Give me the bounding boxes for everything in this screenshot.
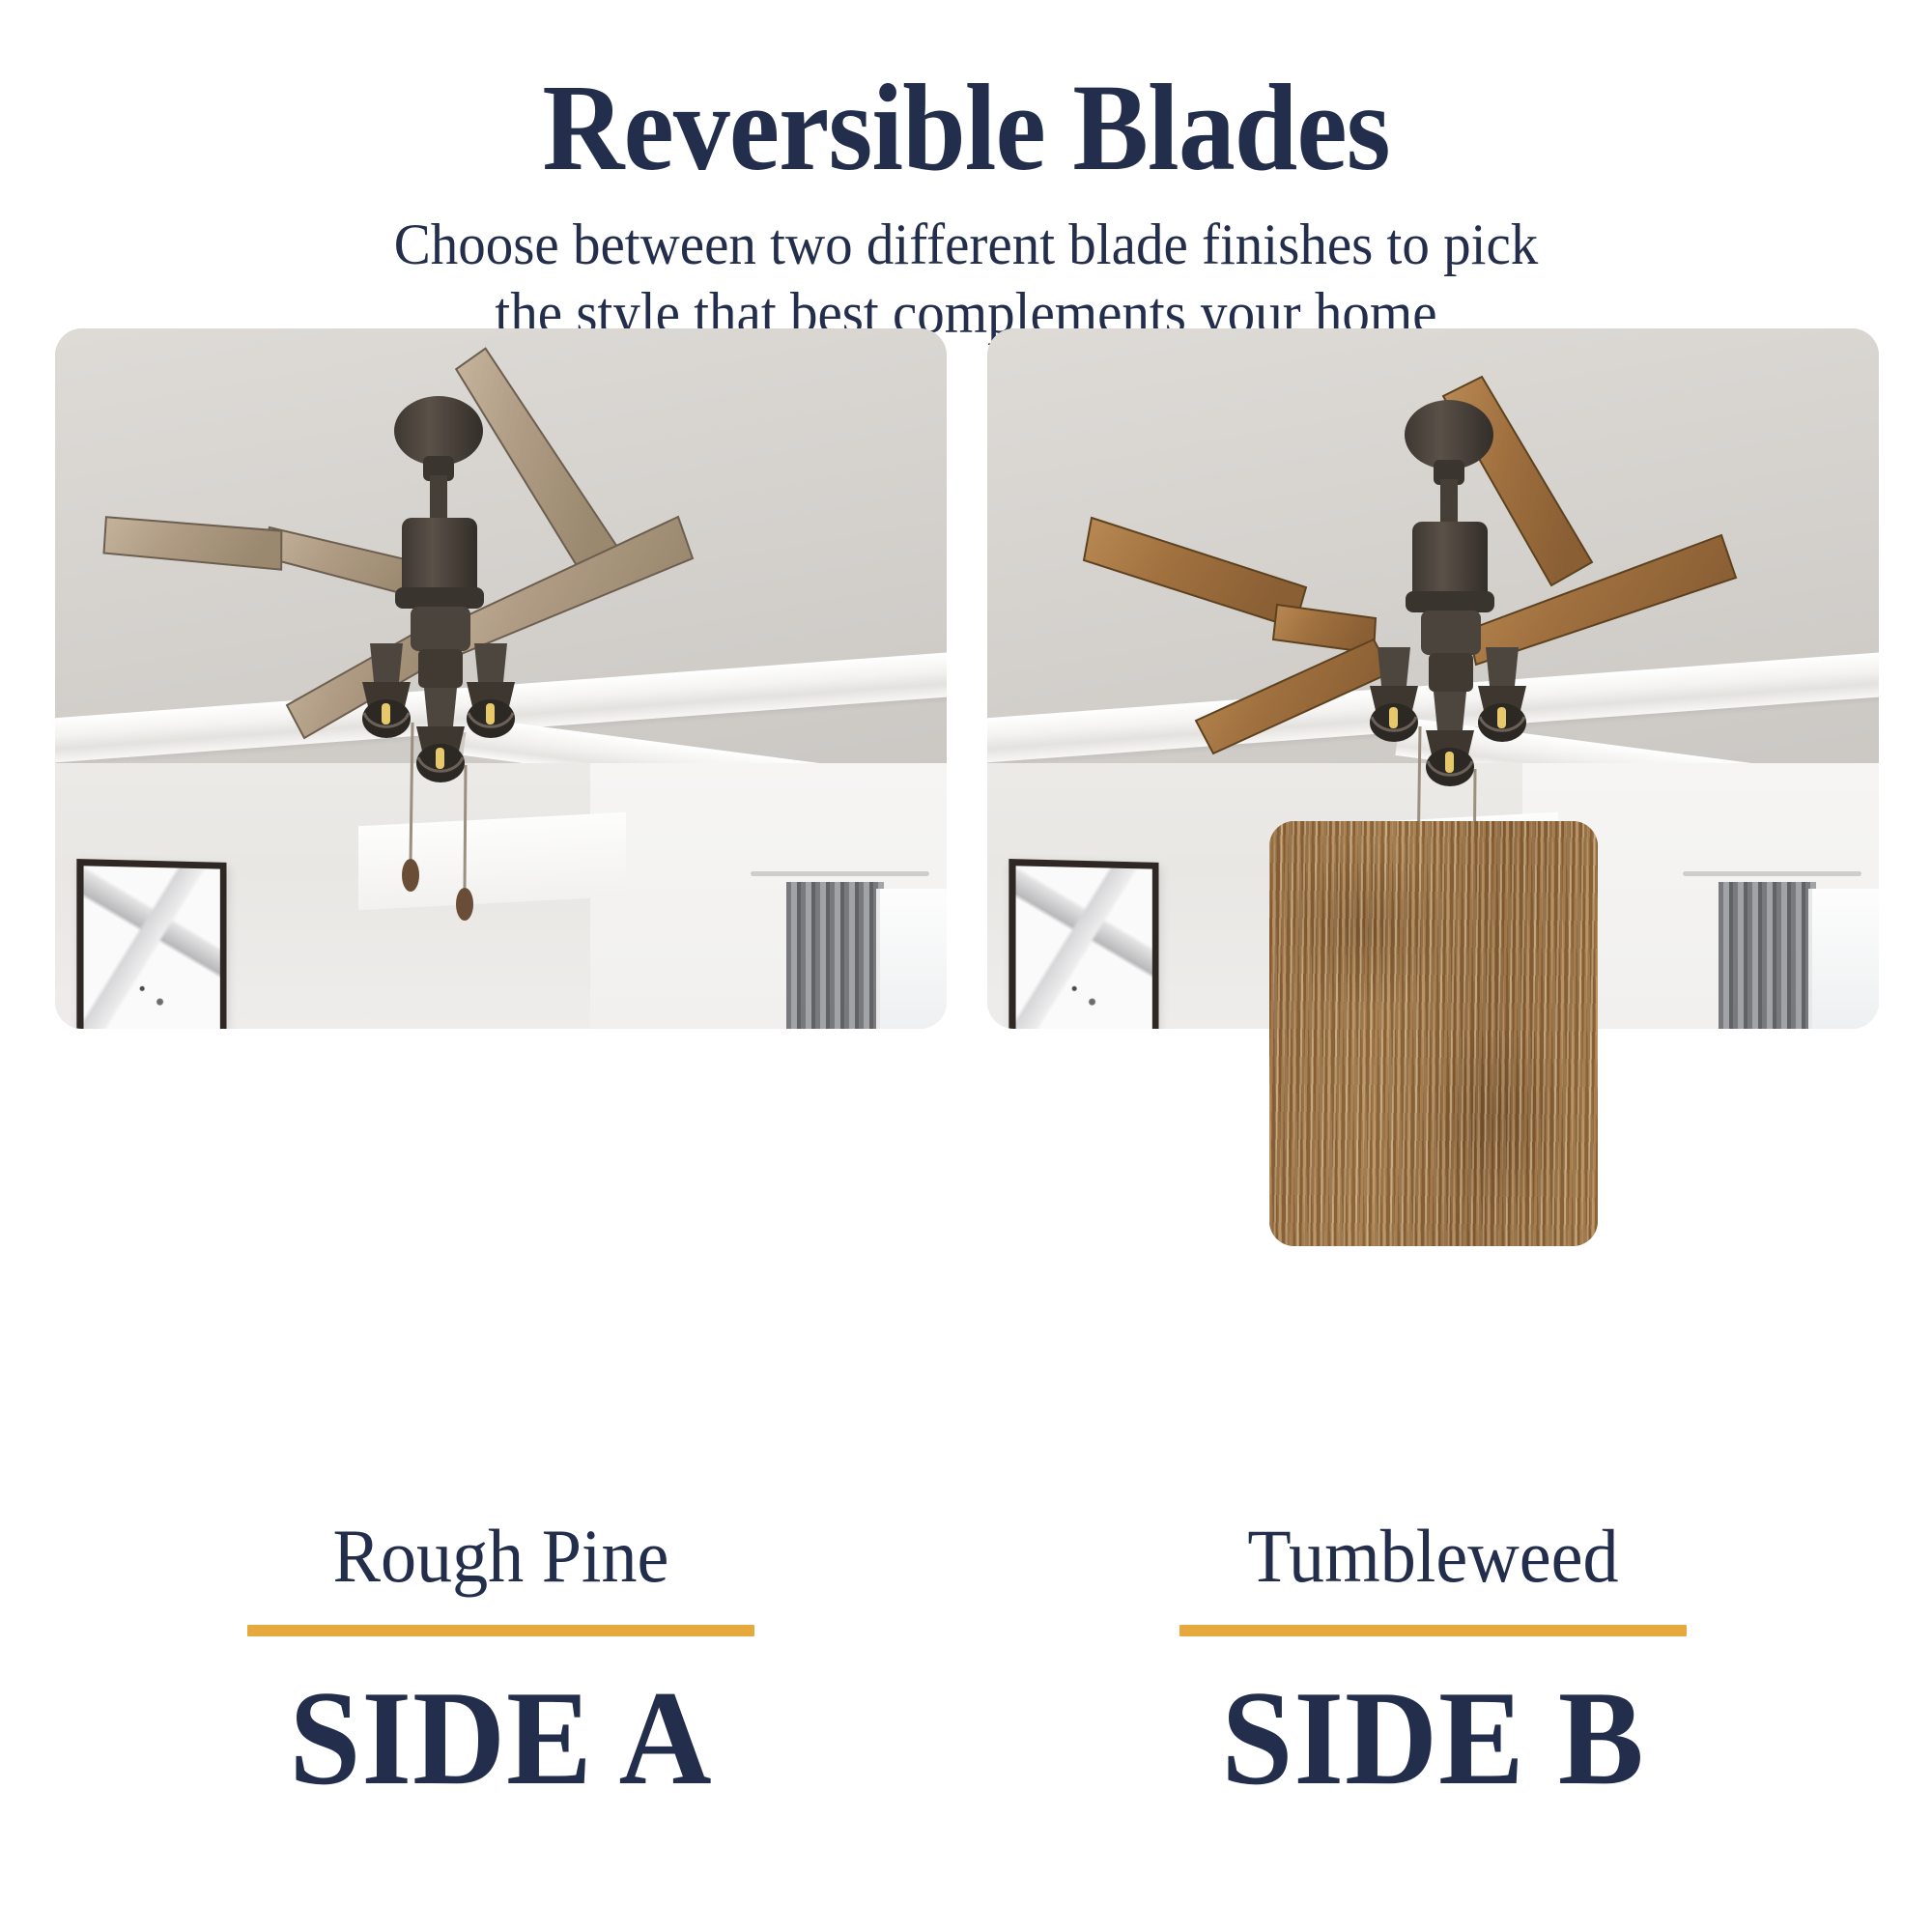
header: Reversible Blades Choose between two dif… [0,0,1932,348]
tumbleweed-texture [1269,821,1598,1246]
light-shade-center [1426,692,1474,786]
page-title: Reversible Blades [77,66,1855,189]
caption-side-b: Tumbleweed SIDE B [987,1519,1879,1806]
panel-side-b: Tumbleweed SIDE B [987,328,1879,1932]
swatch-tumbleweed [1269,821,1598,1246]
side-label: SIDE A [77,1671,924,1806]
fan-mount [1405,400,1494,612]
light-shade-right [467,643,515,738]
finish-name-label: Tumbleweed [1009,1519,1857,1594]
caption-side-a: Rough Pine SIDE A [55,1519,947,1806]
subtitle-line-1: Choose between two different blade finis… [48,211,1884,279]
gold-divider-rule [1179,1625,1687,1636]
panel-side-a: Rough Pine SIDE A [55,328,947,1932]
reversible-blades-infographic: Reversible Blades Choose between two dif… [0,0,1932,1932]
swatch-rough-pine [337,821,666,1246]
page-subtitle: Choose between two different blade finis… [48,211,1884,348]
comparison-panels: Rough Pine SIDE A [0,328,1932,1932]
finish-name-label: Rough Pine [77,1519,924,1594]
light-shade-center [416,688,465,782]
fan-mount [394,396,484,609]
rough-pine-texture [337,821,666,1246]
side-label: SIDE B [1009,1671,1857,1806]
gold-divider-rule [247,1625,754,1636]
